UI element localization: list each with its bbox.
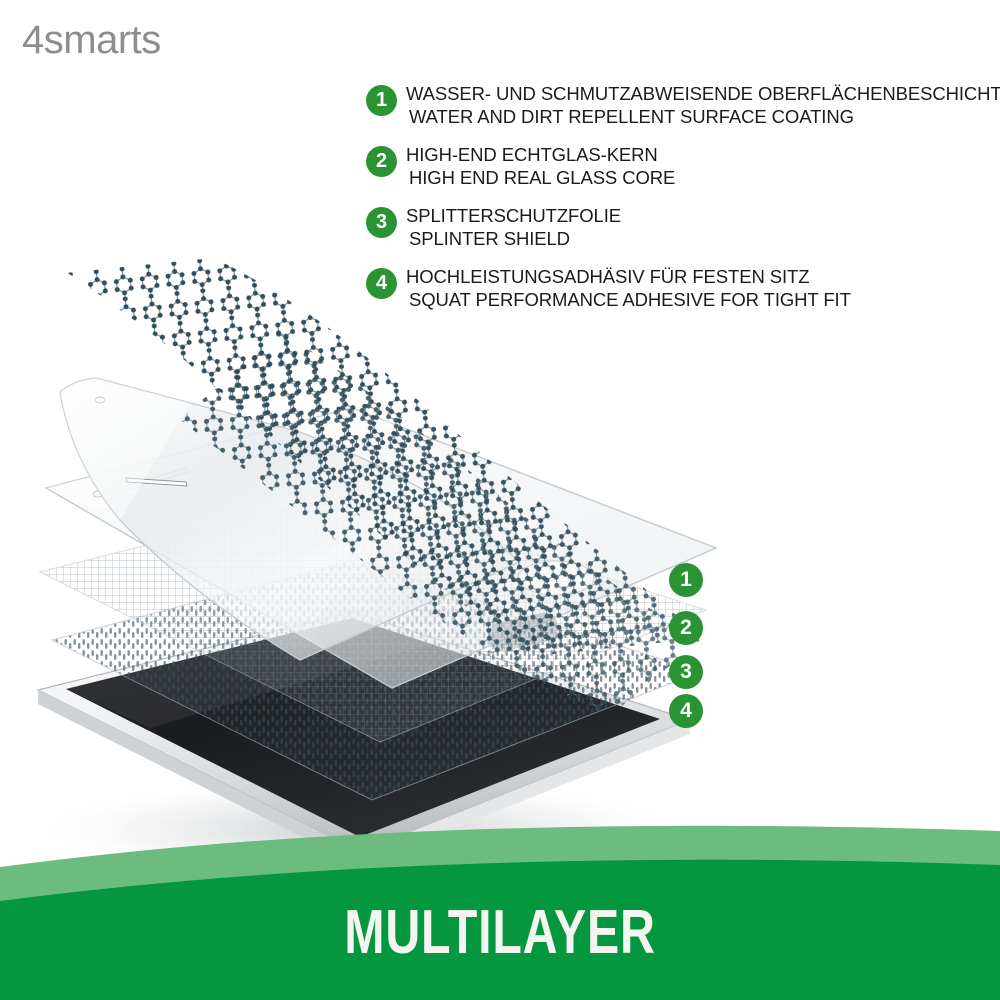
bottom-banner: MULTILAYER (0, 825, 1000, 1000)
product-infographic: 4smarts 1 WASSER- UND SCHMUTZABWEISENDE … (0, 0, 1000, 1000)
feature-item-3: 3 SPLITTERSCHUTZFOLIE SPLINTER SHIELD (366, 204, 991, 250)
feature-text-en-1: WATER AND DIRT REPELLENT SURFACE COATING (406, 105, 991, 128)
callout-badge-2: 2 (669, 611, 703, 645)
feature-item-1: 1 WASSER- UND SCHMUTZABWEISENDE OBERFLÄC… (366, 82, 991, 128)
feature-badge-1: 1 (366, 85, 397, 116)
feature-text-de-3: SPLITTERSCHUTZFOLIE (406, 204, 991, 227)
brand-logo: 4smarts (22, 18, 161, 63)
real-glass-core-layer (46, 408, 716, 688)
speaker-slot-cutout (126, 468, 188, 490)
splinter-shield-layer (40, 494, 706, 742)
feature-item-4: 4 HOCHLEISTUNGSADHÄSIV FÜR FESTEN SITZ S… (366, 265, 991, 311)
upper-glass-sheet (60, 378, 520, 660)
feature-badge-2: 2 (366, 146, 397, 177)
banner-title: MULTILAYER (110, 897, 890, 968)
feature-text-en-4: SQUAT PERFORMANCE ADHESIVE FOR TIGHT FIT (406, 288, 991, 311)
feature-list: 1 WASSER- UND SCHMUTZABWEISENDE OBERFLÄC… (366, 82, 991, 326)
feature-text-de-4: HOCHLEISTUNGSADHÄSIV FÜR FESTEN SITZ (406, 265, 991, 288)
callout-badge-4: 4 (669, 694, 703, 728)
feature-badge-3: 3 (366, 207, 397, 238)
feature-text-en-3: SPLINTER SHIELD (406, 227, 991, 250)
feature-text-de-1: WASSER- UND SCHMUTZABWEISENDE OBERFLÄCHE… (406, 82, 991, 105)
speaker-slot-cutout-upper (126, 478, 187, 486)
feature-item-2: 2 HIGH-END ECHTGLAS-KERN HIGH END REAL G… (366, 143, 991, 189)
adhesive-layer (52, 560, 700, 800)
device-screen (66, 618, 660, 837)
feature-badge-4: 4 (366, 268, 397, 299)
camera-cutout (93, 491, 103, 497)
callout-badge-1: 1 (669, 563, 703, 597)
feature-text-de-2: HIGH-END ECHTGLAS-KERN (406, 143, 991, 166)
feature-text-en-2: HIGH END REAL GLASS CORE (406, 166, 991, 189)
callout-badge-3: 3 (669, 655, 703, 689)
camera-cutout-upper (96, 397, 105, 403)
